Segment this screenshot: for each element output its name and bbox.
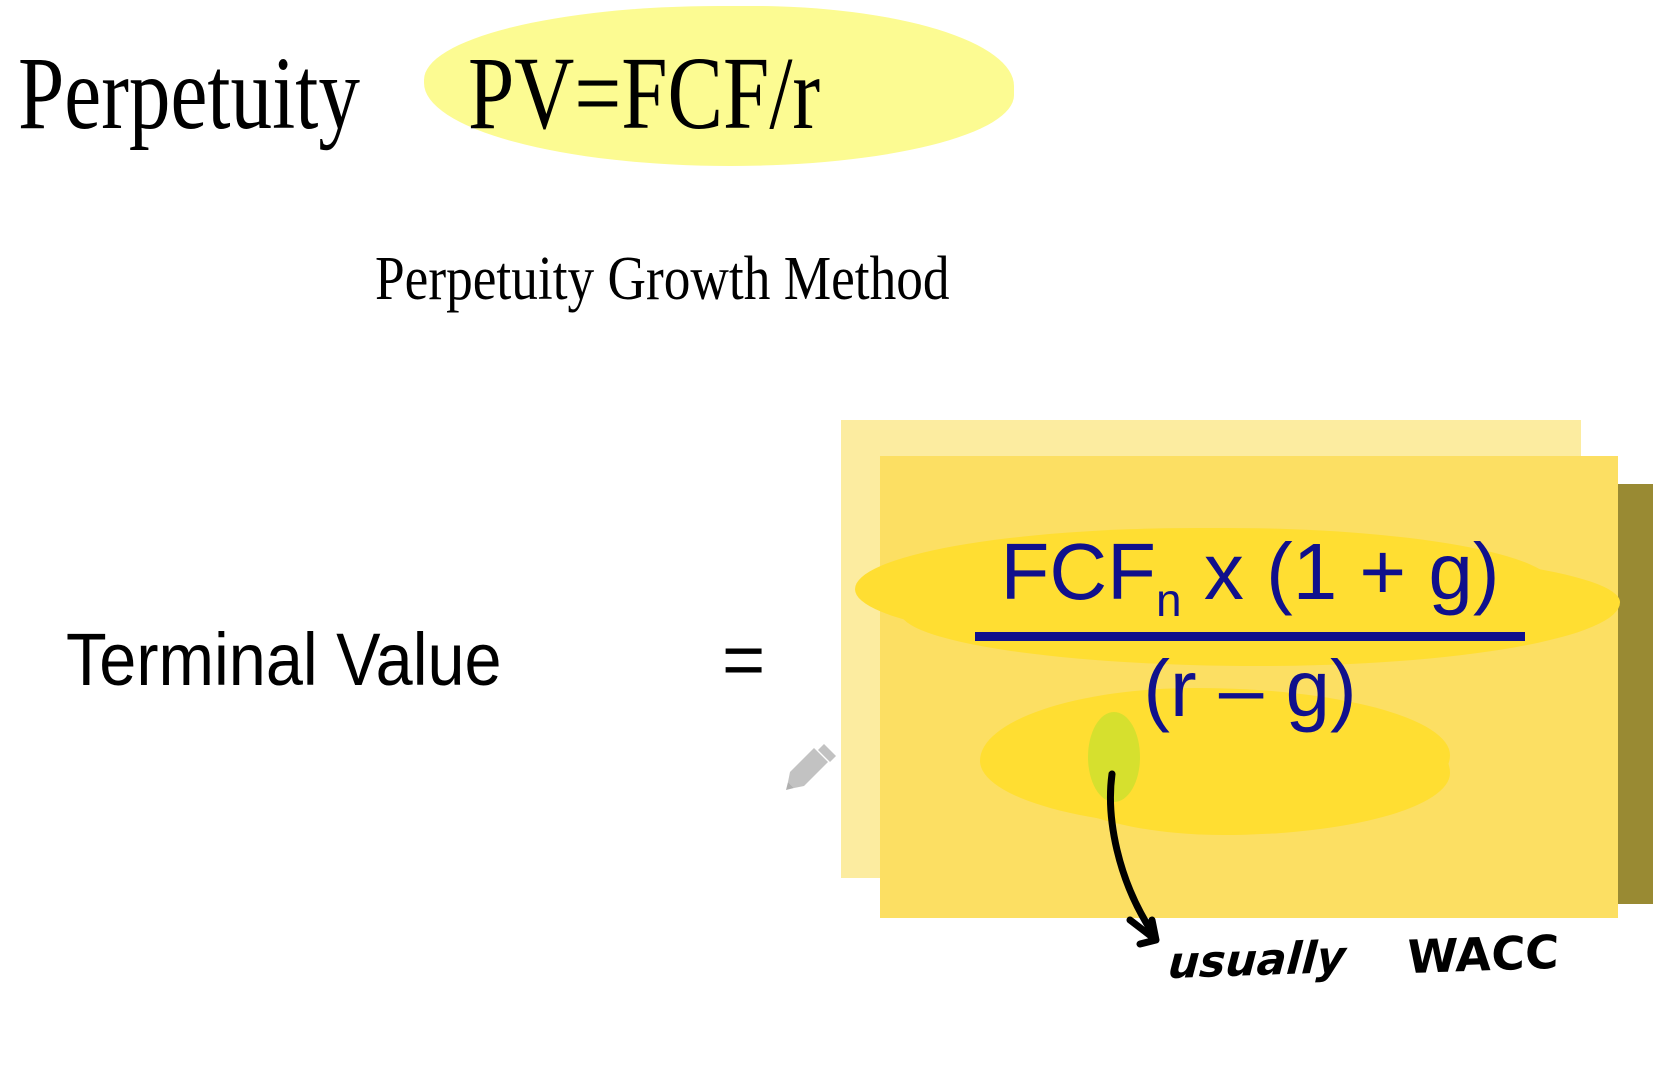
terminal-value-label: Terminal Value bbox=[66, 617, 502, 702]
equals-sign: = bbox=[722, 617, 765, 702]
slide-canvas: Perpetuity PV=FCF/r Perpetuity Growth Me… bbox=[0, 0, 1666, 1091]
terminal-value-formula: FCFn x (1 + g) (r – g) bbox=[880, 530, 1620, 731]
annotation-usually: usually bbox=[1166, 932, 1347, 989]
page-title-formula: PV=FCF/r bbox=[468, 42, 820, 146]
box-shadow-right bbox=[1617, 484, 1653, 904]
formula-fcf-term: FCF bbox=[1001, 527, 1157, 616]
fraction-bar bbox=[975, 632, 1525, 641]
formula-fcf-subscript: n bbox=[1156, 574, 1182, 626]
formula-growth-term: x (1 + g) bbox=[1182, 527, 1500, 616]
annotation-wacc: WACC bbox=[1406, 925, 1560, 984]
pen-icon[interactable] bbox=[784, 742, 840, 794]
subtitle: Perpetuity Growth Method bbox=[375, 244, 950, 315]
formula-denominator: (r – g) bbox=[880, 647, 1620, 731]
page-title-primary: Perpetuity bbox=[18, 42, 360, 146]
formula-numerator: FCFn x (1 + g) bbox=[880, 530, 1620, 624]
